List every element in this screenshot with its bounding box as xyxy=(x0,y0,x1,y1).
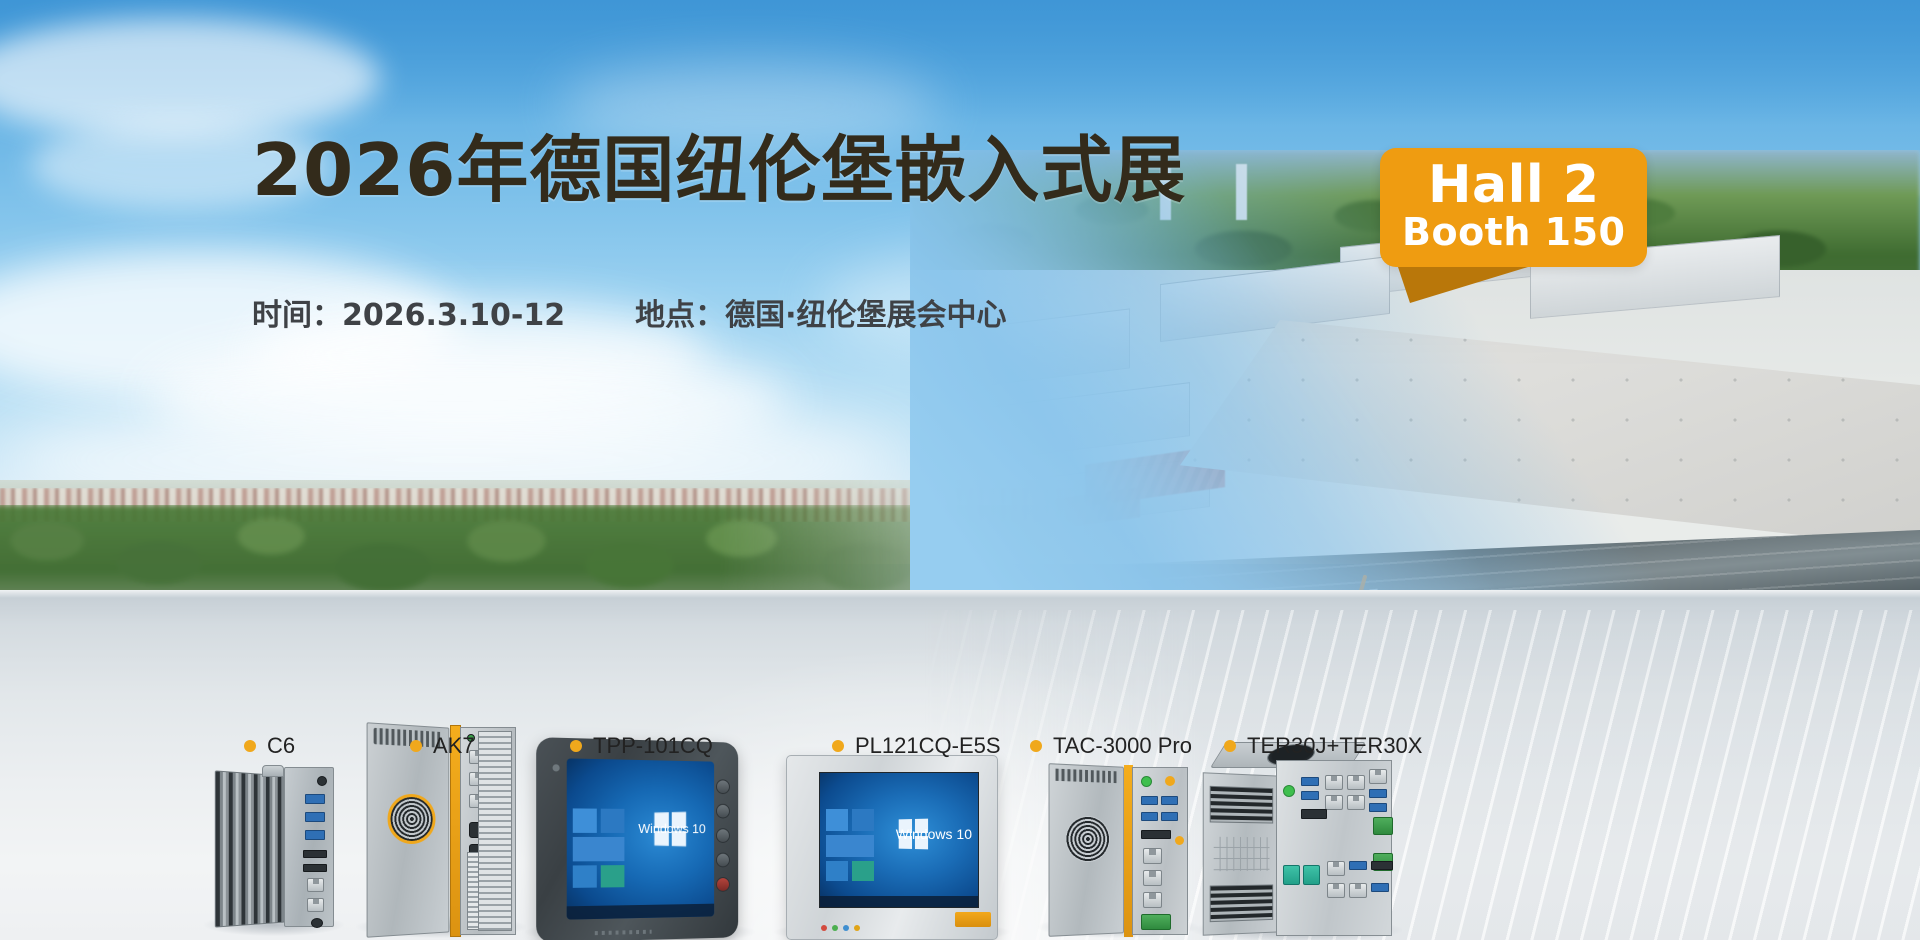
ethernet-port xyxy=(307,878,324,892)
background-tower xyxy=(1236,164,1247,220)
led-red xyxy=(821,925,827,931)
product-label-text: TPP-101CQ xyxy=(593,735,713,757)
terminal-block xyxy=(1141,914,1171,930)
power-connector xyxy=(311,918,323,928)
fieldbus-connector xyxy=(1283,865,1300,885)
usb-port xyxy=(1371,883,1389,892)
led-blue xyxy=(843,925,849,931)
start-menu-tiles xyxy=(573,808,629,906)
displayport-port xyxy=(1141,830,1171,839)
c6-io-panel xyxy=(284,767,334,927)
product-lineup: Windows 10 xyxy=(0,520,1920,940)
badge-hall-text: Hall 2 xyxy=(1402,160,1625,211)
product-label-tac-3000-pro: TAC-3000 Pro xyxy=(1030,735,1192,757)
usb-port xyxy=(305,794,325,804)
taskbar xyxy=(567,904,714,920)
panel-pc-bezel: Windows 10 xyxy=(786,755,998,940)
tablet-screen: Windows 10 xyxy=(567,758,714,919)
tile xyxy=(573,837,625,861)
tile xyxy=(826,835,874,857)
c6-chassis xyxy=(215,770,285,927)
fan-grille xyxy=(1065,816,1109,863)
taskbar xyxy=(820,896,978,907)
product-label-text: TER30J+TER30X xyxy=(1247,735,1422,757)
tile xyxy=(601,809,625,833)
product-labels: C6 AK7 TPP-101CQ PL121CQ-E5S TAC-3000 Pr… xyxy=(0,735,1920,781)
product-ter30j-ter30x[interactable] xyxy=(1202,760,1392,940)
tile xyxy=(601,865,625,887)
usb-port xyxy=(1349,861,1367,870)
knockout-pattern xyxy=(1214,837,1270,872)
page-title: 2026年德国纽伦堡嵌入式展 xyxy=(252,134,1186,206)
terminal-block xyxy=(1373,817,1393,835)
ethernet-port xyxy=(1327,861,1345,876)
volume-button[interactable] xyxy=(716,853,730,868)
product-label-text: TAC-3000 Pro xyxy=(1053,735,1192,757)
ethernet-port xyxy=(1143,870,1162,886)
hall-booth-badge[interactable]: Hall 2 Booth 150 xyxy=(1380,148,1647,267)
usb-port xyxy=(1161,796,1178,805)
ethernet-port xyxy=(1143,892,1162,908)
product-pl121cq-e5s[interactable]: Windows 10 xyxy=(786,755,998,940)
product-label-ak7: AK7 xyxy=(410,735,475,757)
tile xyxy=(826,861,848,881)
usb-port xyxy=(1161,812,1178,821)
led-amber xyxy=(854,925,860,931)
product-label-text: PL121CQ-E5S xyxy=(855,735,1001,757)
ethernet-port xyxy=(307,898,324,912)
product-label-ter30j-ter30x: TER30J+TER30X xyxy=(1224,735,1422,757)
event-venue: 地点：德国·纽伦堡展会中心 xyxy=(635,290,1006,334)
bullet-dot-icon xyxy=(570,740,582,752)
usb-port xyxy=(305,812,325,822)
heatsink-fins xyxy=(215,770,285,927)
function-button[interactable] xyxy=(716,779,730,794)
panel-pc-screen: Windows 10 xyxy=(819,772,979,908)
ter-side-panel xyxy=(1203,772,1280,935)
badge-pointer-icon xyxy=(1398,267,1528,303)
usb-port xyxy=(1369,803,1387,812)
brand-logo xyxy=(955,912,991,927)
ethernet-port xyxy=(1327,883,1345,898)
product-label-tpp-101cq: TPP-101CQ xyxy=(570,735,713,757)
led-green xyxy=(832,925,838,931)
tablet-side-buttons[interactable] xyxy=(716,779,731,901)
product-tac-3000-pro[interactable] xyxy=(1048,765,1188,940)
exhibition-banner: NÜRNBERG MESSE 2026年德国纽伦堡嵌入式展 时间：2026.3.… xyxy=(0,0,1920,940)
tile xyxy=(852,861,874,881)
product-c6[interactable] xyxy=(214,765,334,940)
product-label-text: AK7 xyxy=(433,735,475,757)
event-date: 时间：2026.3.10-12 xyxy=(252,290,565,334)
product-label-c6: C6 xyxy=(244,735,295,757)
bullet-dot-icon xyxy=(1224,740,1236,752)
brightness-button[interactable] xyxy=(716,828,730,843)
tac-chassis xyxy=(1049,763,1124,937)
status-led-group xyxy=(821,925,860,931)
bullet-dot-icon xyxy=(1030,740,1042,752)
power-button[interactable] xyxy=(716,877,730,892)
bullet-dot-icon xyxy=(832,740,844,752)
tile xyxy=(573,865,597,888)
hdmi-port xyxy=(1371,861,1393,870)
usb-port xyxy=(1141,812,1158,821)
status-led xyxy=(1175,836,1184,845)
event-meta: 时间：2026.3.10-12 地点：德国·纽伦堡展会中心 xyxy=(252,290,1007,334)
hdmi-port xyxy=(303,864,327,872)
ethernet-port xyxy=(1143,848,1162,864)
vent-grille xyxy=(1210,884,1273,922)
usb-port xyxy=(1301,791,1319,800)
bullet-dot-icon xyxy=(244,740,256,752)
windows-button[interactable] xyxy=(716,804,730,819)
displayport-port xyxy=(303,850,327,858)
hdmi-port xyxy=(1301,809,1327,819)
screen-os-label: Windows 10 xyxy=(638,822,705,835)
product-label-pl121cq-e5s: PL121CQ-E5S xyxy=(832,735,1001,757)
ethernet-port xyxy=(1349,883,1367,898)
speaker-grille xyxy=(595,930,652,935)
tile xyxy=(826,809,848,831)
usb-port xyxy=(1141,796,1158,805)
ethernet-port xyxy=(1325,795,1343,810)
badge-body[interactable]: Hall 2 Booth 150 xyxy=(1380,148,1647,267)
product-label-text: C6 xyxy=(267,735,295,757)
tile xyxy=(852,809,874,831)
usb-port xyxy=(1369,789,1387,798)
tile xyxy=(573,808,597,832)
badge-booth-text: Booth 150 xyxy=(1402,213,1625,253)
ethernet-port xyxy=(1347,795,1365,810)
screen-os-label: Windows 10 xyxy=(896,827,972,841)
ter-io-face xyxy=(1276,760,1392,936)
start-menu-tiles xyxy=(826,809,876,897)
usb-port xyxy=(305,830,325,840)
bullet-dot-icon xyxy=(410,740,422,752)
fan-grille xyxy=(388,794,436,845)
vent-grille xyxy=(1210,786,1273,824)
tac-io-panel xyxy=(1132,767,1188,935)
power-button[interactable] xyxy=(1283,785,1295,797)
fieldbus-connector xyxy=(1303,865,1320,885)
